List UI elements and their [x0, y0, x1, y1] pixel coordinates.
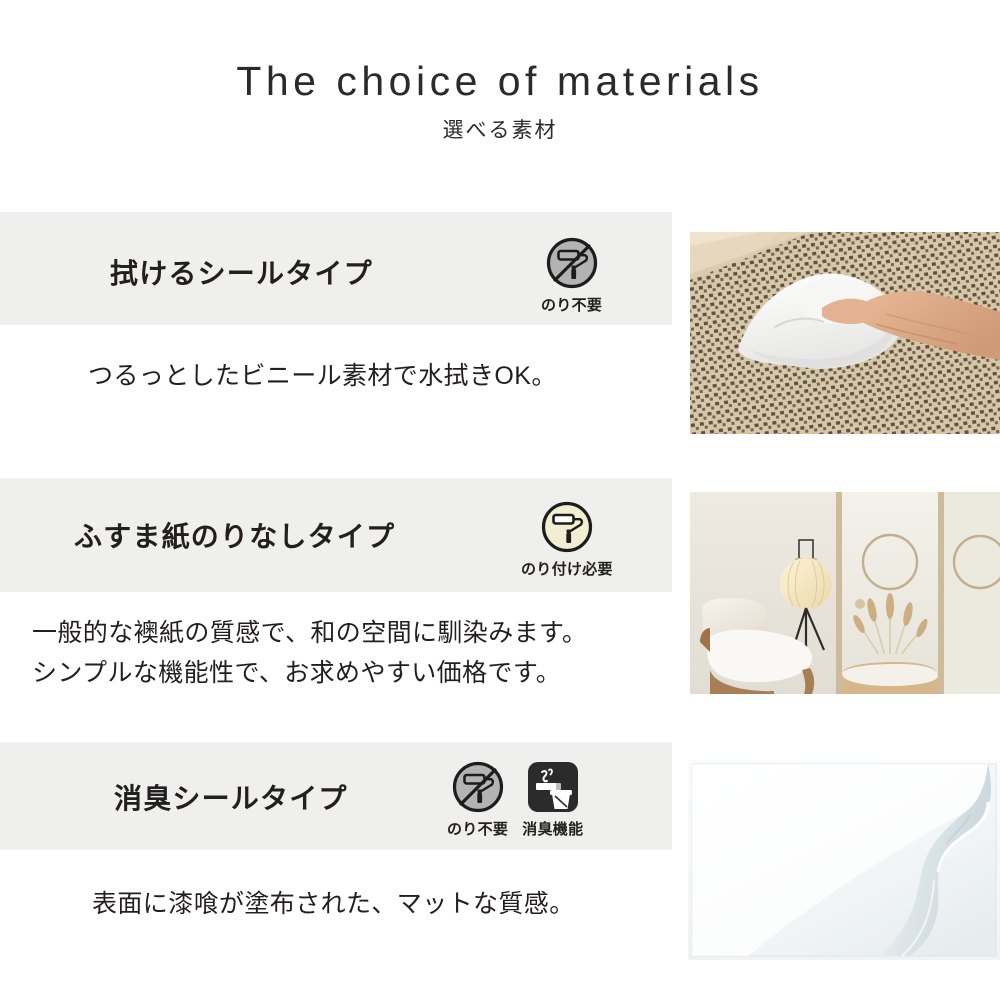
section-photo: [690, 232, 1000, 434]
section-description-line-2: シンプルな機能性で、お求めやすい価格です。: [32, 654, 561, 693]
photo-wipe-rattan: [690, 232, 1000, 434]
section-photo: [690, 492, 1000, 694]
badge-group: のり付け必要: [521, 500, 613, 577]
photo-white-sheet: [688, 760, 1000, 960]
paint-roller-prohibited-icon: [451, 760, 505, 819]
badge-deodorize: 消臭機能: [522, 760, 583, 837]
paint-roller-required-icon: [540, 500, 594, 559]
badge-label: 消臭機能: [522, 822, 583, 837]
section-photo: [688, 760, 1000, 960]
section-title: 消臭シールタイプ: [114, 777, 348, 817]
photo-japandi-room: [690, 492, 1000, 694]
badge-label: のり不要: [447, 822, 508, 837]
badge-glue-required: のり付け必要: [521, 500, 613, 577]
badge-label: のり不要: [541, 298, 602, 313]
badge-no-glue: のり不要: [447, 760, 508, 837]
paint-roller-prohibited-icon: [545, 236, 599, 295]
page-subtitle: 選べる素材: [0, 114, 1000, 144]
section-description: 表面に漆喰が塗布された、マットな質感。: [92, 885, 575, 924]
page-header: The choice of materials 選べる素材: [0, 0, 1000, 200]
page-title: The choice of materials: [0, 58, 1000, 105]
section-title: ふすま紙のりなしタイプ: [74, 515, 395, 555]
badge-no-glue: のり不要: [541, 236, 602, 313]
badge-group: のり不要: [541, 236, 602, 313]
badge-label: のり付け必要: [521, 562, 613, 577]
section-description-line-1: 一般的な襖紙の質感で、和の空間に馴染みます。: [32, 614, 587, 653]
deodorize-cigarette-trash-icon: [526, 760, 580, 819]
badge-group: のり不要: [447, 760, 583, 837]
section-title: 拭けるシールタイプ: [110, 252, 373, 292]
material-choice-page: The choice of materials 選べる素材 拭けるシールタイプ: [0, 0, 1000, 1000]
section-description: つるっとしたビニール素材で水拭きOK。: [88, 357, 557, 396]
